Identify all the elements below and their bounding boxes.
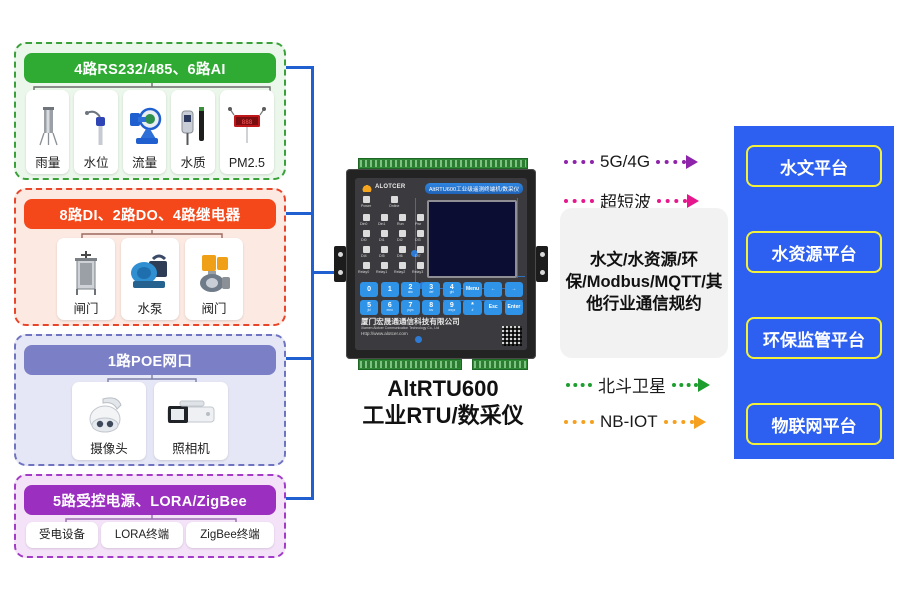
key-6[interactable]: 6mno bbox=[381, 300, 399, 315]
led-indicator bbox=[363, 262, 370, 269]
dash-line-right bbox=[656, 160, 686, 164]
dash-line-left bbox=[564, 199, 594, 203]
sun-icon bbox=[361, 182, 373, 192]
led-indicator bbox=[363, 246, 370, 253]
io-item-rain[interactable]: 雨量 bbox=[26, 90, 69, 174]
led-indicator bbox=[417, 246, 424, 253]
io-item-label: 照相机 bbox=[172, 443, 210, 457]
io-group-ai: 4路RS232/485、6路AI 雨量 水位 流量 bbox=[14, 42, 286, 180]
led-label: DI0 bbox=[361, 238, 367, 242]
io-item-camera-ptz[interactable]: 摄像头 bbox=[72, 382, 146, 460]
led-label: Power bbox=[361, 204, 371, 208]
led-indicator bbox=[399, 262, 406, 269]
pcb-node bbox=[415, 336, 422, 343]
led-label: Online bbox=[389, 204, 399, 208]
io-item-label: 摄像头 bbox=[90, 443, 128, 457]
led-label: Din0 bbox=[360, 222, 367, 226]
water-pump-icon bbox=[123, 242, 177, 303]
flow-meter-icon bbox=[125, 94, 164, 157]
led-indicator bbox=[381, 214, 388, 221]
key-main: 0 bbox=[367, 286, 371, 293]
pcb-trace bbox=[517, 198, 518, 278]
arrow-head-icon bbox=[686, 155, 698, 169]
led-indicator bbox=[399, 230, 406, 237]
led-label: Relay2 bbox=[394, 270, 405, 274]
brand-logo: ALOTCER bbox=[361, 182, 405, 192]
protocol-list-box: 水文/水资源/环保/Modbus/MQTT/其他行业通信规约 bbox=[560, 208, 728, 358]
io-item-camera-box[interactable]: 照相机 bbox=[154, 382, 228, 460]
key-main: Esc bbox=[489, 305, 498, 310]
io-group-di: 8路DI、2路DO、4路继电器 闸门 水泵 阀门 bbox=[14, 188, 286, 326]
link-label: 5G/4G bbox=[594, 152, 656, 172]
rtu-device: ALOTCER AltRTU600工业级遥测终端机/数采仪 Power Onli… bbox=[332, 158, 550, 370]
key-main: Enter bbox=[508, 305, 521, 310]
key-8[interactable]: 8tuv bbox=[422, 300, 440, 315]
led-label: Relay3 bbox=[412, 270, 423, 274]
pm25-display-icon: 888 bbox=[222, 94, 272, 157]
io-item-label: 雨量 bbox=[35, 157, 60, 171]
device-panel-title: AltRTU600工业级遥测终端机/数采仪 bbox=[425, 183, 523, 194]
key-3[interactable]: 3def bbox=[422, 282, 440, 297]
platform-hydrology[interactable]: 水文平台 bbox=[746, 145, 882, 187]
key-main: Menu bbox=[466, 287, 479, 292]
io-item-label: 水质 bbox=[181, 157, 206, 171]
platform-iot[interactable]: 物联网平台 bbox=[746, 403, 882, 445]
device-keypad[interactable]: 0 1 2abc 3def 4ghi Menu ← → 5jkl 6mno 7p… bbox=[360, 282, 523, 315]
qr-code-icon bbox=[502, 326, 522, 346]
protocol-text: 水文/水资源/环保/Modbus/MQTT/其他行业通信规约 bbox=[560, 250, 728, 315]
io-item-zigbee-terminal[interactable]: ZigBee终端 bbox=[186, 522, 274, 548]
dash-line-left bbox=[566, 383, 592, 387]
dash-line-left bbox=[564, 420, 594, 424]
key-main: 1 bbox=[388, 286, 392, 293]
led-label: Run bbox=[397, 222, 404, 226]
io-item-flow[interactable]: 流量 bbox=[123, 90, 166, 174]
led-label: DI4 bbox=[361, 254, 367, 258]
led-indicator bbox=[399, 246, 406, 253]
terminal-block-bottom-left bbox=[358, 359, 462, 370]
key-main: ← bbox=[491, 287, 496, 292]
io-group-ai-items: 雨量 水位 流量 水质 88 bbox=[26, 90, 274, 174]
link-label: NB-IOT bbox=[594, 412, 664, 432]
arrow-head-icon bbox=[698, 378, 710, 392]
led-indicator bbox=[417, 262, 424, 269]
key-0[interactable]: 0 bbox=[360, 282, 378, 297]
key-7[interactable]: 7pqrs bbox=[401, 300, 419, 315]
key-1[interactable]: 1 bbox=[381, 282, 399, 297]
box-camera-icon bbox=[156, 386, 226, 443]
key-4[interactable]: 4ghi bbox=[443, 282, 461, 297]
platform-label: 环保监管平台 bbox=[763, 326, 865, 351]
key-sub: ghi bbox=[450, 291, 454, 294]
led-indicator bbox=[381, 262, 388, 269]
io-item-label: 受电设备 bbox=[39, 529, 85, 542]
link-5g4g: 5G/4G bbox=[564, 152, 698, 172]
led-indicator bbox=[399, 214, 406, 221]
key-right[interactable]: → bbox=[505, 282, 523, 297]
key-5[interactable]: 5jkl bbox=[360, 300, 378, 315]
dash-line-right bbox=[672, 383, 698, 387]
ptz-camera-icon bbox=[74, 386, 144, 443]
platform-label: 水文平台 bbox=[780, 154, 848, 179]
key-sub: def bbox=[429, 291, 433, 294]
key-main: → bbox=[511, 287, 516, 292]
io-group-lora-title: 5路受控电源、LORA/ZigBee bbox=[24, 485, 276, 515]
key-star[interactable]: *# bbox=[463, 300, 481, 315]
io-group-poe-items: 摄像头 照相机 bbox=[26, 382, 274, 460]
io-group-poe: 1路POE网口 摄像头 照相机 bbox=[14, 334, 286, 466]
device-subtitle: 工业RTU/数采仪 bbox=[330, 403, 556, 430]
key-menu[interactable]: Menu bbox=[463, 282, 481, 297]
platform-label: 水资源平台 bbox=[772, 240, 857, 265]
led-indicator bbox=[363, 214, 370, 221]
device-faceplate: ALOTCER AltRTU600工业级遥测终端机/数采仪 Power Onli… bbox=[355, 178, 527, 350]
led-label: Din1 bbox=[378, 222, 385, 226]
led-label: Relay1 bbox=[376, 270, 387, 274]
io-group-poe-title: 1路POE网口 bbox=[24, 345, 276, 375]
link-beidou: 北斗卫星 bbox=[566, 372, 710, 397]
io-item-lora-terminal[interactable]: LORA终端 bbox=[101, 522, 183, 548]
key-esc[interactable]: Esc bbox=[484, 300, 502, 315]
diagram-canvas: 4路RS232/485、6路AI 雨量 水位 流量 bbox=[0, 0, 900, 600]
platform-environment[interactable]: 环保监管平台 bbox=[746, 317, 882, 359]
key-enter[interactable]: Enter bbox=[505, 300, 523, 315]
led-label: DI7 bbox=[415, 254, 421, 258]
arrow-head-icon bbox=[694, 415, 706, 429]
io-item-label: 水泵 bbox=[137, 303, 162, 317]
io-item-pump[interactable]: 水泵 bbox=[121, 238, 179, 320]
io-item-valve[interactable]: 阀门 bbox=[185, 238, 243, 320]
io-item-pm25[interactable]: 888 PM2.5 bbox=[220, 90, 274, 174]
led-label: DI1 bbox=[379, 238, 385, 242]
io-item-powered-device[interactable]: 受电设备 bbox=[26, 522, 98, 548]
io-item-label: LORA终端 bbox=[115, 529, 169, 542]
rain-gauge-icon bbox=[28, 94, 67, 157]
io-group-di-items: 闸门 水泵 阀门 bbox=[26, 238, 274, 320]
platform-panel: 水文平台 水资源平台 环保监管平台 物联网平台 bbox=[734, 126, 894, 459]
io-item-waterquality[interactable]: 水质 bbox=[171, 90, 214, 174]
pcb-trace bbox=[415, 198, 416, 288]
terminal-block-bottom-right bbox=[472, 359, 528, 370]
led-label: Pwr bbox=[415, 222, 421, 226]
mount-bracket-right bbox=[536, 246, 548, 282]
platform-water-resource[interactable]: 水资源平台 bbox=[746, 231, 882, 273]
mount-bracket-left bbox=[334, 246, 346, 282]
dash-line-right bbox=[657, 199, 687, 203]
led-indicator bbox=[381, 230, 388, 237]
dash-line-right bbox=[664, 420, 694, 424]
dash-line-left bbox=[564, 160, 594, 164]
io-item-label: 水位 bbox=[84, 157, 109, 171]
key-sub: tuv bbox=[429, 309, 433, 312]
sluice-gate-icon bbox=[59, 242, 113, 303]
led-indicator bbox=[363, 230, 370, 237]
link-label: 北斗卫星 bbox=[592, 372, 672, 397]
key-sub: wxyz bbox=[448, 309, 455, 312]
io-item-label: 阀门 bbox=[201, 303, 226, 317]
key-sub: mno bbox=[387, 309, 393, 312]
io-group-lora: 5路受控电源、LORA/ZigBee 受电设备 LORA终端 ZigBee终端 bbox=[14, 474, 286, 558]
device-body: ALOTCER AltRTU600工业级遥测终端机/数采仪 Power Onli… bbox=[346, 169, 536, 359]
key-sub: # bbox=[472, 309, 474, 312]
platform-label: 物联网平台 bbox=[772, 412, 857, 437]
led-label: DI3 bbox=[415, 238, 421, 242]
led-indicator bbox=[417, 230, 424, 237]
arrow-head-icon bbox=[687, 194, 699, 208]
device-company-info: 厦门宏晟通通信科技有限公司 Xiamen Alotcer Communicati… bbox=[361, 318, 460, 336]
device-lcd-screen[interactable] bbox=[427, 200, 517, 278]
company-url: Http://www.alotcer.com bbox=[361, 331, 460, 336]
device-model: AltRTU600 bbox=[330, 376, 556, 403]
led-power bbox=[363, 196, 370, 203]
io-item-label: 流量 bbox=[132, 157, 157, 171]
link-nbiot: NB-IOT bbox=[564, 412, 706, 432]
led-indicator bbox=[417, 214, 424, 221]
io-item-label: PM2.5 bbox=[229, 157, 265, 171]
key-left[interactable]: ← bbox=[484, 282, 502, 297]
key-9[interactable]: 9wxyz bbox=[443, 300, 461, 315]
led-label: DI5 bbox=[379, 254, 385, 258]
led-label: Relay0 bbox=[358, 270, 369, 274]
led-online bbox=[391, 196, 398, 203]
led-label: DI2 bbox=[397, 238, 403, 242]
io-item-waterlevel[interactable]: 水位 bbox=[74, 90, 117, 174]
io-item-label: ZigBee终端 bbox=[200, 529, 259, 542]
brand-name: ALOTCER bbox=[375, 184, 405, 190]
io-item-gate[interactable]: 闸门 bbox=[57, 238, 115, 320]
led-indicator bbox=[381, 246, 388, 253]
io-group-ai-title: 4路RS232/485、6路AI bbox=[24, 53, 276, 83]
bus-line-vertical bbox=[311, 66, 314, 500]
led-label: DI6 bbox=[397, 254, 403, 258]
water-quality-probe-icon bbox=[173, 94, 212, 157]
terminal-block-top bbox=[358, 158, 528, 169]
key-sub: abc bbox=[408, 291, 413, 294]
svg-text:888: 888 bbox=[241, 119, 252, 126]
water-level-sensor-icon bbox=[76, 94, 115, 157]
io-group-di-title: 8路DI、2路DO、4路继电器 bbox=[24, 199, 276, 229]
key-sub: pqrs bbox=[407, 309, 413, 312]
device-caption: AltRTU600 工业RTU/数采仪 bbox=[330, 376, 556, 430]
io-item-label: 闸门 bbox=[73, 303, 98, 317]
key-2[interactable]: 2abc bbox=[401, 282, 419, 297]
io-group-lora-items: 受电设备 LORA终端 ZigBee终端 bbox=[26, 522, 274, 550]
valve-actuator-icon bbox=[187, 242, 241, 303]
key-sub: jkl bbox=[368, 309, 371, 312]
